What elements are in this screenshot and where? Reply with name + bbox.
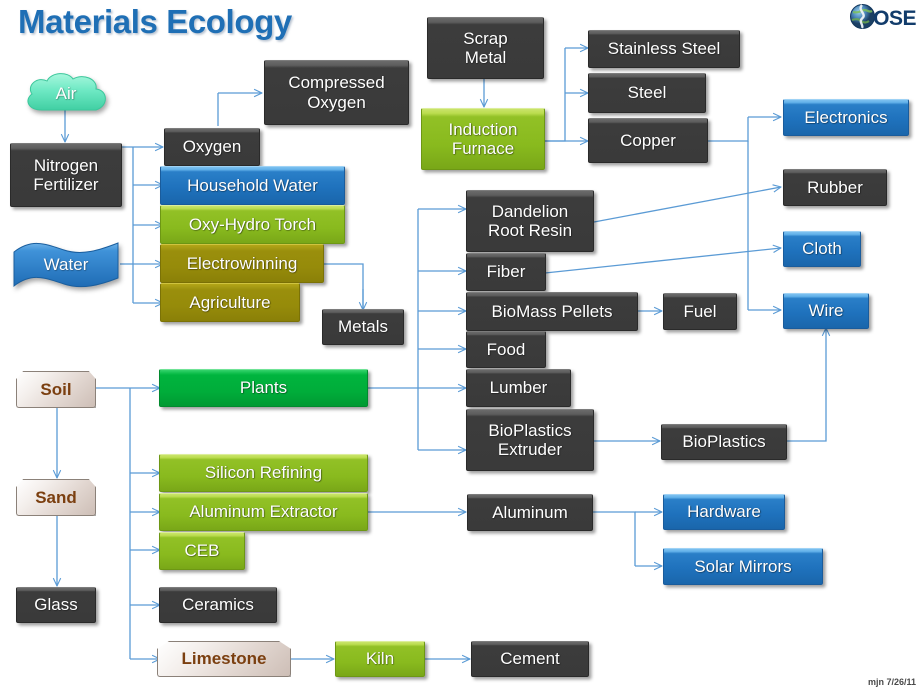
node-bioplastics[interactable]: BioPlastics — [661, 424, 787, 460]
node-compressed-oxygen[interactable]: Compressed Oxygen — [264, 60, 409, 125]
node-scrap-metal-label: Scrap Metal — [463, 29, 507, 67]
node-biomass-pellets[interactable]: BioMass Pellets — [466, 292, 638, 331]
node-aluminum-label: Aluminum — [492, 503, 568, 522]
node-fuel-label: Fuel — [683, 302, 716, 321]
node-cement[interactable]: Cement — [471, 641, 589, 677]
node-hardware-label: Hardware — [687, 502, 761, 521]
node-oxygen[interactable]: Oxygen — [164, 128, 260, 166]
node-cloth[interactable]: Cloth — [783, 231, 861, 267]
node-lumber-label: Lumber — [490, 378, 548, 397]
node-stainless-steel-label: Stainless Steel — [608, 39, 720, 58]
node-aluminum[interactable]: Aluminum — [467, 494, 593, 531]
node-soil[interactable]: Soil — [16, 371, 96, 408]
node-electronics-label: Electronics — [804, 108, 887, 127]
node-soil-label: Soil — [40, 380, 71, 399]
node-silicon-refining[interactable]: Silicon Refining — [159, 454, 368, 492]
node-electrowinning-label: Electrowinning — [187, 254, 298, 273]
node-aluminum-extractor-label: Aluminum Extractor — [189, 502, 337, 521]
node-compressed-oxygen-label: Compressed Oxygen — [288, 73, 384, 111]
node-electronics[interactable]: Electronics — [783, 99, 909, 136]
node-cloth-label: Cloth — [802, 239, 842, 258]
node-plants-label: Plants — [240, 378, 287, 397]
node-glass[interactable]: Glass — [16, 587, 96, 623]
node-solar-mirrors[interactable]: Solar Mirrors — [663, 548, 823, 585]
node-metals[interactable]: Metals — [322, 309, 404, 345]
node-biomass-pellets-label: BioMass Pellets — [492, 302, 613, 321]
author-signature: mjn 7/26/11 — [868, 677, 916, 687]
node-oxy-hydro-torch[interactable]: Oxy-Hydro Torch — [160, 205, 345, 244]
node-air[interactable]: Air — [20, 70, 112, 118]
logo-text: OSE — [873, 7, 916, 31]
globe-icon — [849, 3, 876, 35]
node-sand-label: Sand — [35, 488, 77, 507]
node-food[interactable]: Food — [466, 331, 546, 368]
node-household-water-label: Household Water — [187, 176, 318, 195]
node-dandelion-root-resin-label: Dandelion Root Resin — [488, 202, 572, 240]
node-fiber-label: Fiber — [487, 262, 526, 281]
node-water[interactable]: Water — [12, 240, 120, 290]
node-solar-mirrors-label: Solar Mirrors — [694, 557, 791, 576]
node-ceb[interactable]: CEB — [159, 532, 245, 570]
node-agriculture[interactable]: Agriculture — [160, 283, 300, 322]
ose-logo: OSE — [849, 5, 916, 33]
node-wire-label: Wire — [809, 301, 844, 320]
node-aluminum-extractor[interactable]: Aluminum Extractor — [159, 493, 368, 531]
node-induction-furnace[interactable]: Induction Furnace — [421, 108, 545, 170]
node-oxy-hydro-torch-label: Oxy-Hydro Torch — [189, 215, 316, 234]
node-ceramics[interactable]: Ceramics — [159, 587, 277, 623]
page-title: Materials Ecology — [18, 3, 292, 41]
node-oxygen-label: Oxygen — [183, 137, 242, 156]
node-kiln-label: Kiln — [366, 649, 394, 668]
node-lumber[interactable]: Lumber — [466, 369, 571, 407]
node-household-water[interactable]: Household Water — [160, 166, 345, 205]
node-air-label: Air — [20, 70, 112, 118]
node-nitrogen-fertilizer[interactable]: Nitrogen Fertilizer — [10, 143, 122, 207]
node-bioplastics-label: BioPlastics — [682, 432, 765, 451]
node-silicon-refining-label: Silicon Refining — [205, 463, 322, 482]
node-ceb-label: CEB — [185, 541, 220, 560]
node-hardware[interactable]: Hardware — [663, 494, 785, 530]
node-copper[interactable]: Copper — [588, 118, 708, 163]
node-ceramics-label: Ceramics — [182, 595, 254, 614]
node-agriculture-label: Agriculture — [189, 293, 270, 312]
node-food-label: Food — [487, 340, 526, 359]
node-fiber[interactable]: Fiber — [466, 253, 546, 291]
node-metals-label: Metals — [338, 317, 388, 336]
node-glass-label: Glass — [34, 595, 77, 614]
node-dandelion-root-resin[interactable]: Dandelion Root Resin — [466, 190, 594, 252]
node-rubber[interactable]: Rubber — [783, 169, 887, 206]
node-limestone[interactable]: Limestone — [157, 641, 291, 677]
node-steel-label: Steel — [628, 83, 667, 102]
node-wire[interactable]: Wire — [783, 293, 869, 329]
node-bioplastics-extruder-label: BioPlastics Extruder — [488, 421, 571, 459]
node-fuel[interactable]: Fuel — [663, 293, 737, 330]
materials-ecology-diagram: Materials Ecology OSE — [0, 0, 923, 691]
node-nitrogen-fertilizer-label: Nitrogen Fertilizer — [33, 156, 98, 194]
node-stainless-steel[interactable]: Stainless Steel — [588, 30, 740, 68]
node-limestone-label: Limestone — [181, 649, 266, 668]
node-bioplastics-extruder[interactable]: BioPlastics Extruder — [466, 409, 594, 471]
node-kiln[interactable]: Kiln — [335, 641, 425, 677]
node-water-label: Water — [12, 240, 120, 290]
node-induction-furnace-label: Induction Furnace — [449, 120, 518, 158]
node-sand[interactable]: Sand — [16, 479, 96, 516]
node-copper-label: Copper — [620, 131, 676, 150]
node-plants[interactable]: Plants — [159, 369, 368, 407]
node-electrowinning[interactable]: Electrowinning — [160, 244, 324, 283]
node-scrap-metal[interactable]: Scrap Metal — [427, 17, 544, 79]
node-steel[interactable]: Steel — [588, 73, 706, 113]
node-cement-label: Cement — [500, 649, 560, 668]
node-rubber-label: Rubber — [807, 178, 863, 197]
